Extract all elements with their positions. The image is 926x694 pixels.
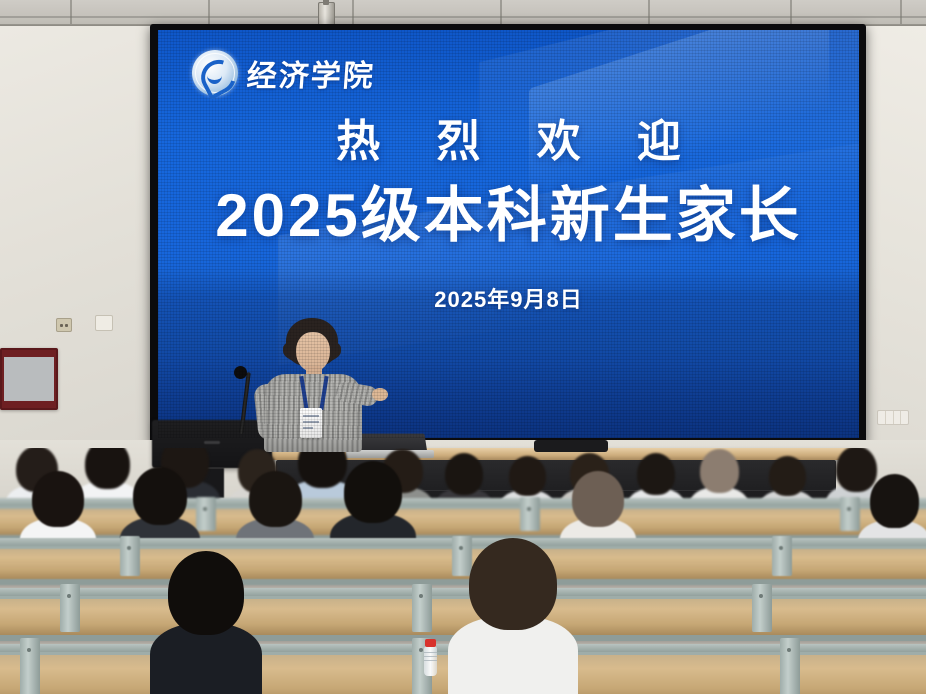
slide-date: 2025年9月8日 xyxy=(158,282,859,314)
audience-head xyxy=(445,453,483,495)
slide-subheadline: 2025级本科新生家长 xyxy=(158,175,859,256)
school-emblem-icon xyxy=(192,50,238,96)
water-bottle xyxy=(424,646,437,676)
presenter-hand xyxy=(372,388,388,401)
emblem-arc-text xyxy=(192,53,238,71)
slide-headline: 热 烈 欢 迎 xyxy=(158,114,859,169)
audience-head xyxy=(32,471,84,527)
presenter xyxy=(258,318,368,458)
light-switch-panel[interactable] xyxy=(877,410,909,425)
lecture-hall-photo: 经济学院 热 烈 欢 迎 2025级本科新生家长 2025年9月8日 xyxy=(0,0,926,694)
audience-head xyxy=(572,471,624,527)
audience-head xyxy=(344,461,402,523)
audience-head xyxy=(509,456,546,496)
audience-head xyxy=(168,551,244,635)
audience-head xyxy=(637,453,675,495)
audience-head xyxy=(769,456,806,496)
wall-sign xyxy=(0,348,58,410)
wall-switch-plate-icon[interactable] xyxy=(95,315,113,331)
audience-head xyxy=(870,474,919,528)
audience-head xyxy=(133,467,187,525)
microphone-head-icon xyxy=(234,366,247,379)
school-logo: 经济学院 xyxy=(192,50,375,96)
slide-text-block: 热 烈 欢 迎 2025级本科新生家长 2025年9月8日 xyxy=(158,114,859,314)
right-wall xyxy=(860,26,926,496)
audience-head xyxy=(700,449,739,493)
id-badge xyxy=(300,408,322,438)
audience-head xyxy=(469,538,557,630)
audience-seating xyxy=(0,448,926,694)
left-wall xyxy=(0,26,168,496)
audience-head xyxy=(249,471,302,527)
school-name: 经济学院 xyxy=(245,51,376,95)
wall-outlet-icon xyxy=(56,318,72,332)
audience-member xyxy=(150,564,262,694)
audience-member xyxy=(448,556,578,694)
